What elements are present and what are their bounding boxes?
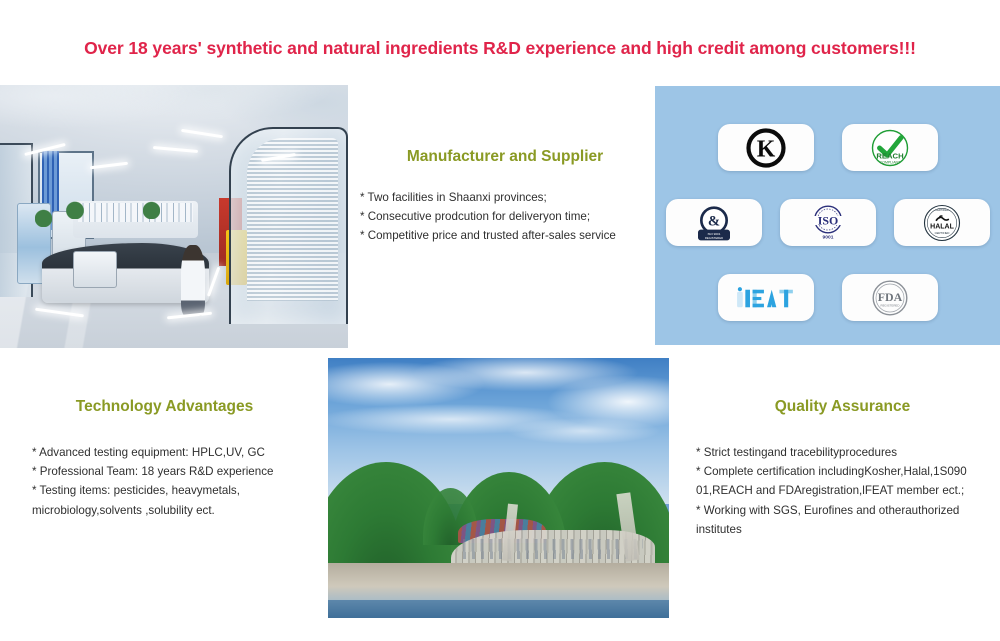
technology-title: Technology Advantages: [12, 398, 317, 416]
lab-plant-icon: [143, 198, 160, 219]
lab-instrument: [73, 251, 117, 287]
manufacturer-bullet: * Two facilities in Shaanxi provinces;: [360, 189, 650, 208]
svg-text:&: &: [707, 213, 719, 229]
manufacturer-bullet: * Consecutive prodcution for deliveryon …: [360, 208, 650, 227]
quality-bullets: * Strict testingand tracebilityprocedure…: [690, 443, 995, 539]
page-headline: Over 18 years' synthetic and natural ing…: [0, 38, 1000, 59]
technology-bullet: * Advanced testing equipment: HPLC,UV, G…: [32, 443, 317, 462]
svg-text:FDA: FDA: [877, 289, 902, 303]
svg-text:CERTIFIED: CERTIFIED: [934, 231, 949, 235]
certification-badge-halal[interactable]: HALAL CERTIFIED CERTIFIED: [894, 199, 990, 246]
certification-badge-ifeat[interactable]: [718, 274, 814, 321]
svg-text:REGISTERED: REGISTERED: [704, 236, 722, 240]
technology-section: Technology Advantages * Advanced testing…: [12, 398, 317, 520]
aerial-water: [328, 600, 669, 618]
sgs-registered-icon: & ISO 9001 REGISTERED: [694, 203, 734, 243]
lab-plant-icon: [35, 206, 52, 227]
svg-text:REACH: REACH: [876, 151, 904, 160]
capability-banner: Over 18 years' synthetic and natural ing…: [0, 0, 1000, 641]
svg-text:9001: 9001: [822, 234, 833, 240]
quality-bullet: 01,REACH and FDAregistration,lFEAT membe…: [696, 481, 995, 500]
fda-registered-icon: FDA REGISTERED: [869, 277, 911, 319]
quality-title: Quality Assurance: [690, 398, 995, 416]
certification-row: K REACH COMPLIANT: [655, 124, 1000, 171]
certification-panel: K REACH COMPLIANT & ISO 9001 RE: [655, 86, 1000, 345]
certification-row: FDA REGISTERED: [655, 274, 1000, 321]
technology-bullet: * Testing items: pesticides, heavymetals…: [32, 481, 317, 500]
svg-text:HALAL: HALAL: [930, 223, 954, 230]
svg-text:K: K: [756, 136, 775, 162]
technology-bullet: microbiology,solvents ,solubility ect.: [32, 501, 317, 520]
technology-bullet: * Professional Team: 18 years R&D experi…: [32, 462, 317, 481]
certification-row: & ISO 9001 REGISTERED ISO 9001: [655, 199, 1000, 246]
halal-icon: HALAL CERTIFIED CERTIFIED: [921, 202, 963, 244]
svg-text:CERTIFIED: CERTIFIED: [935, 209, 948, 212]
kosher-k-icon: K: [745, 127, 787, 169]
svg-text:COMPLIANT: COMPLIANT: [879, 160, 900, 164]
lab-blinds: [247, 138, 337, 301]
certification-badge-fda[interactable]: FDA REGISTERED: [842, 274, 938, 321]
quality-section: Quality Assurance * Strict testingand tr…: [690, 398, 995, 539]
aerial-facility-photo: [328, 358, 669, 618]
certification-badge-sgs[interactable]: & ISO 9001 REGISTERED: [666, 199, 762, 246]
quality-bullet: * Strict testingand tracebilityprocedure…: [696, 443, 995, 462]
svg-text:ISO: ISO: [817, 213, 838, 227]
laboratory-photo: [0, 85, 348, 348]
certification-badge-reach[interactable]: REACH COMPLIANT: [842, 124, 938, 171]
quality-bullet: institutes: [696, 520, 995, 539]
lab-technician: [181, 245, 205, 316]
certification-badge-kosher[interactable]: K: [718, 124, 814, 171]
aerial-foreground: [328, 563, 669, 605]
quality-bullet: * Complete certification includingKosher…: [696, 462, 995, 481]
ifeat-icon: [735, 283, 797, 313]
technology-bullets: * Advanced testing equipment: HPLC,UV, G…: [12, 443, 317, 520]
iso-9001-icon: ISO 9001: [807, 202, 849, 244]
certification-badge-iso[interactable]: ISO 9001: [780, 199, 876, 246]
svg-text:REGISTERED: REGISTERED: [880, 303, 899, 307]
quality-bullet: * Working with SGS, Eurofines and othera…: [696, 501, 995, 520]
lab-reagent-shelf: [73, 201, 198, 238]
manufacturer-section: Manufacturer and Supplier * Two faciliti…: [360, 148, 650, 245]
lab-plant-icon: [66, 198, 83, 219]
manufacturer-bullets: * Two facilities in Shaanxi provinces; *…: [360, 189, 650, 245]
reach-check-icon: REACH COMPLIANT: [869, 127, 911, 169]
manufacturer-title: Manufacturer and Supplier: [360, 148, 650, 166]
manufacturer-bullet: * Competitive price and trusted after-sa…: [360, 227, 650, 246]
